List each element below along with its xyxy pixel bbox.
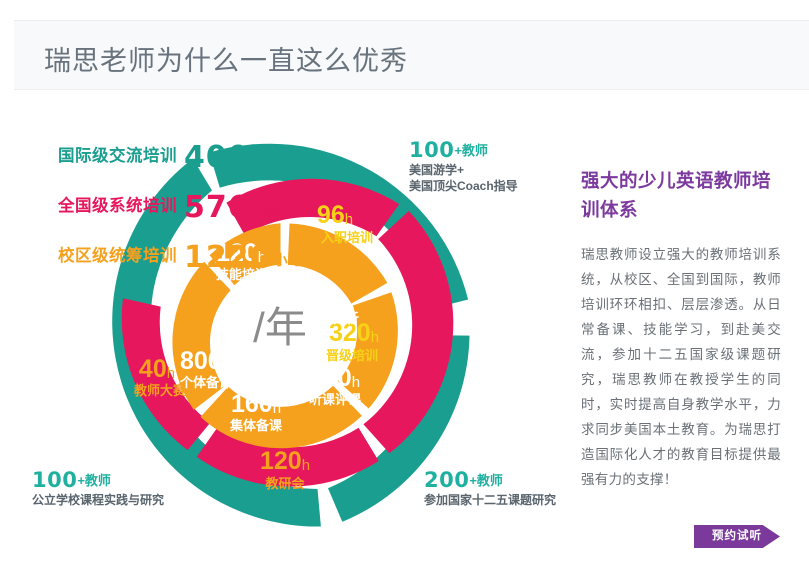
legend-unit-campus: 小时 — [274, 252, 302, 268]
callout-bottom-right-plus: +教师 — [469, 473, 503, 488]
legend: 国际级交流培训400位 全国级系统培训576小时 校区级统筹培训1220小时 — [58, 140, 318, 290]
segment-sub-160h-group: 集体备课 — [229, 418, 283, 433]
callout-bottom-left-plus: +教师 — [77, 473, 111, 488]
callout-top-right-number: 100 — [409, 138, 454, 162]
segment-sub-800h: 个体备课 — [179, 375, 233, 390]
side-panel: 强大的少儿英语教师培训体系 瑞思教师设立强大的教师培训系统，从校区、全国到国际，… — [581, 166, 781, 492]
callout-bottom-left: 100+教师 公立学校课程实践与研究 — [32, 468, 164, 508]
callout-bottom-left-number: 100 — [32, 468, 77, 492]
segment-label-800h: 800h — [180, 347, 230, 375]
segment-value-800h: 800 — [180, 347, 222, 375]
segment-label-40h: 40h — [139, 355, 175, 383]
legend-label-national: 全国级系统培训 — [58, 197, 177, 215]
callout-bottom-right-sub1: 参加国家十二五课题研究 — [424, 493, 556, 508]
segment-value-120h-jyh: 120 — [260, 447, 302, 475]
side-panel-body: 瑞思教师设立强大的教师培训系统，从校区、全国到国际，教师培训环环相扣、层层渗透。… — [581, 242, 781, 492]
segment-value-40h: 40 — [139, 355, 167, 383]
segment-sub-8h: 统考分析 — [307, 311, 359, 326]
callout-bottom-right: 200+教师 参加国家十二五课题研究 — [424, 468, 556, 508]
callout-bottom-left-sub1: 公立学校课程实践与研究 — [32, 493, 164, 508]
legend-row-campus: 校区级统筹培训1220小时 — [58, 240, 318, 290]
legend-row-international: 国际级交流培训400位 — [58, 140, 318, 190]
segment-sub-320h: 晋级培训 — [326, 348, 378, 363]
legend-label-international: 国际级交流培训 — [58, 147, 177, 165]
segment-value-160h-group: 160 — [231, 390, 273, 418]
callout-bottom-right-number: 200 — [424, 468, 469, 492]
segment-value-160h-listen: 160 — [310, 364, 352, 392]
segment-sub-120h-jyh: 教研会 — [264, 476, 305, 491]
segment-sub-96h: 入职培训 — [321, 230, 373, 245]
legend-value-campus: 1220 — [184, 240, 272, 275]
segment-value-8h: 8 — [321, 283, 335, 311]
legend-row-national: 全国级系统培训576小时 — [58, 190, 318, 240]
infographic-page: 瑞思老师为什么一直这么优秀 — [0, 0, 809, 578]
segment-label-160h-group: 160h — [231, 390, 281, 418]
book-trial-button[interactable]: 预约试听 — [694, 525, 780, 548]
legend-unit-national: 小时 — [252, 202, 280, 218]
segment-sub-40h: 教师大赛 — [133, 383, 187, 398]
callout-top-right-sub2: 美国顶尖Coach指导 — [409, 179, 518, 194]
callout-top-right-plus: +教师 — [454, 143, 488, 158]
segment-value-96h: 96 — [317, 201, 345, 229]
legend-label-campus: 校区级统筹培训 — [58, 247, 177, 265]
legend-value-national: 576 — [184, 190, 250, 225]
legend-unit-international: 位 — [252, 152, 266, 168]
page-title: 瑞思老师为什么一直这么优秀 — [44, 39, 408, 78]
callout-top-right-sub1: 美国游学+ — [409, 163, 518, 178]
legend-value-international: 400 — [184, 140, 250, 175]
callout-top-right: 100+教师 美国游学+ 美国顶尖Coach指导 — [409, 138, 518, 194]
donut-center-label: /年 — [253, 304, 307, 351]
side-panel-title: 强大的少儿英语教师培训体系 — [581, 166, 781, 224]
segment-sub-160h-listen: 听课评课 — [309, 392, 362, 407]
